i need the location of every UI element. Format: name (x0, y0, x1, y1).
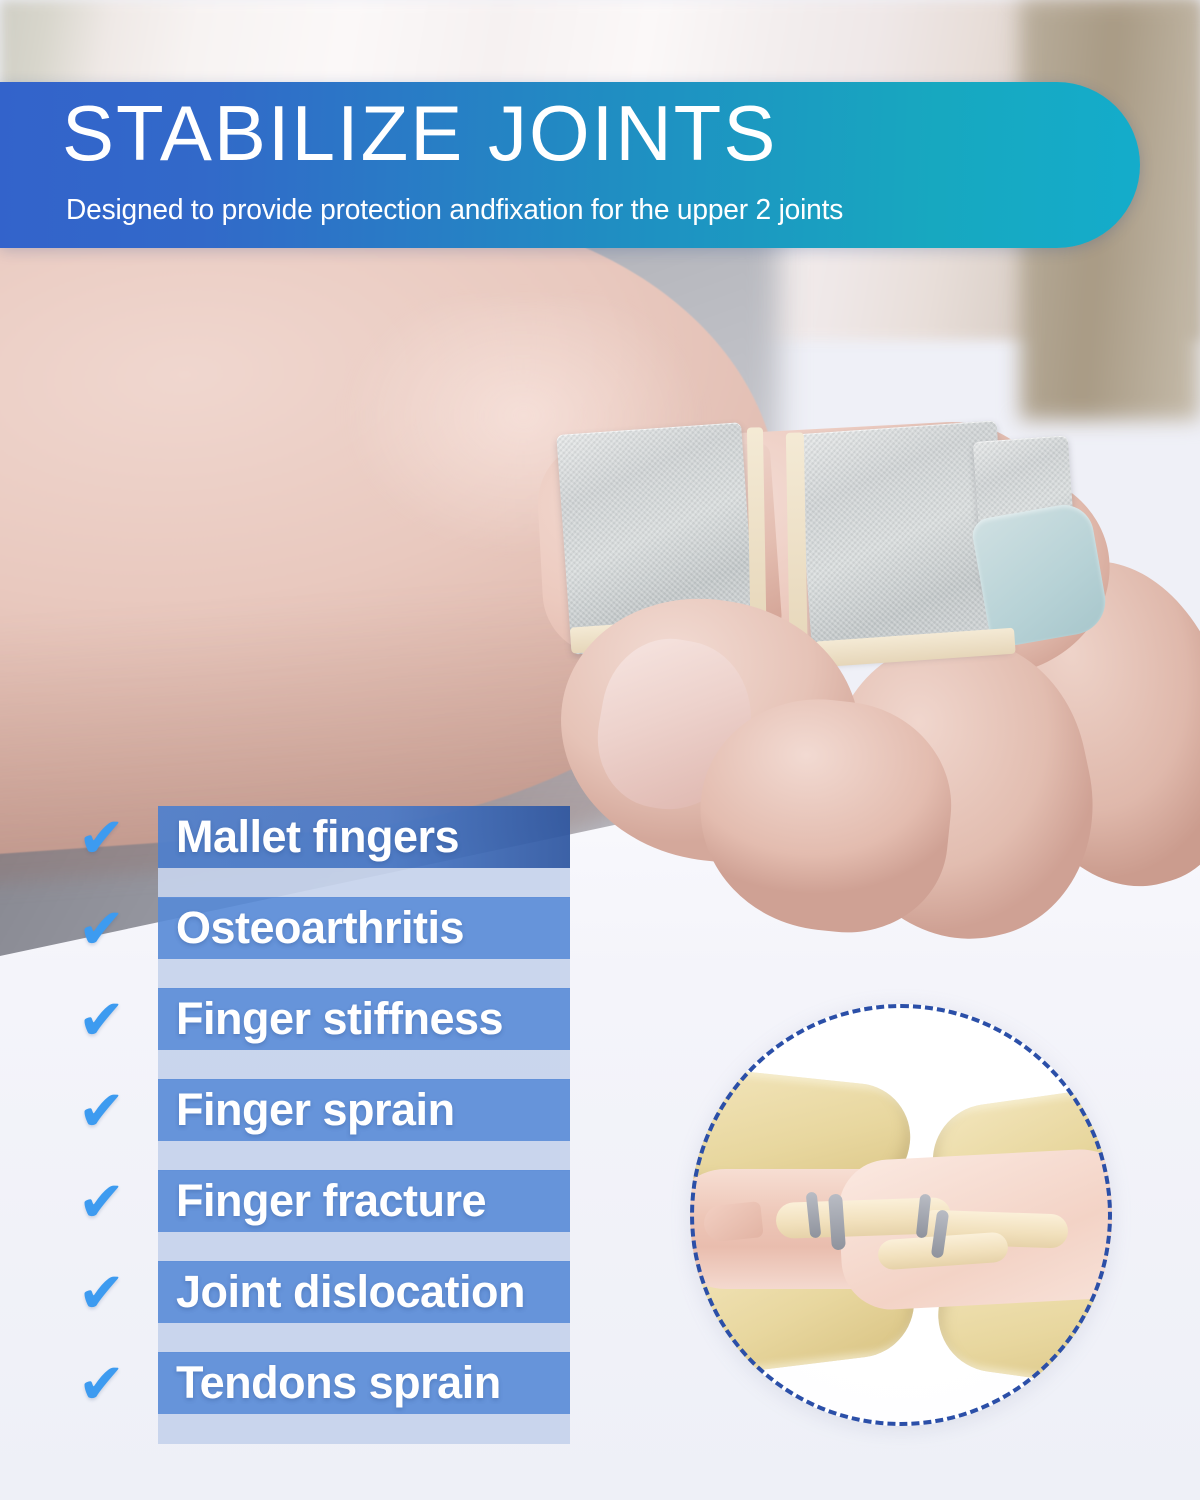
list-item[interactable]: ✔ Tendons sprain (0, 1342, 600, 1433)
list-item-label: Mallet fingers (176, 814, 459, 860)
check-icon: ✔ (78, 901, 125, 957)
list-item[interactable]: ✔ Osteoarthritis (0, 887, 600, 978)
list-item-label: Finger stiffness (176, 996, 503, 1042)
list-item[interactable]: ✔ Joint dislocation (0, 1251, 600, 1342)
infographic-root: STABILIZE JOINTS Designed to provide pro… (0, 0, 1200, 1500)
check-icon: ✔ (78, 1356, 125, 1412)
check-icon: ✔ (78, 1083, 125, 1139)
splint-liner (970, 500, 1111, 649)
page-title: STABILIZE JOINTS (62, 94, 777, 172)
list-item[interactable]: ✔ Finger sprain (0, 1069, 600, 1160)
check-icon: ✔ (78, 810, 125, 866)
dashed-circle-border (690, 1004, 1112, 1426)
list-item[interactable]: ✔ Mallet fingers (0, 796, 600, 887)
check-icon: ✔ (78, 1174, 125, 1230)
page-subtitle: Designed to provide protection andfixati… (66, 196, 843, 225)
condition-checklist: ✔ Mallet fingers ✔ Osteoarthritis ✔ Fing… (0, 796, 600, 1433)
list-item-label: Osteoarthritis (176, 905, 464, 951)
list-item-label: Tendons sprain (176, 1360, 501, 1406)
header-banner: STABILIZE JOINTS Designed to provide pro… (0, 82, 1140, 248)
list-item-label: Finger sprain (176, 1087, 455, 1133)
list-item-separator (158, 1414, 570, 1444)
anatomy-illustration (690, 1004, 1112, 1426)
check-icon: ✔ (78, 992, 125, 1048)
list-item[interactable]: ✔ Finger fracture (0, 1160, 600, 1251)
list-item-label: Finger fracture (176, 1178, 486, 1224)
list-item[interactable]: ✔ Finger stiffness (0, 978, 600, 1069)
check-icon: ✔ (78, 1265, 125, 1321)
list-item-label: Joint dislocation (176, 1269, 525, 1315)
